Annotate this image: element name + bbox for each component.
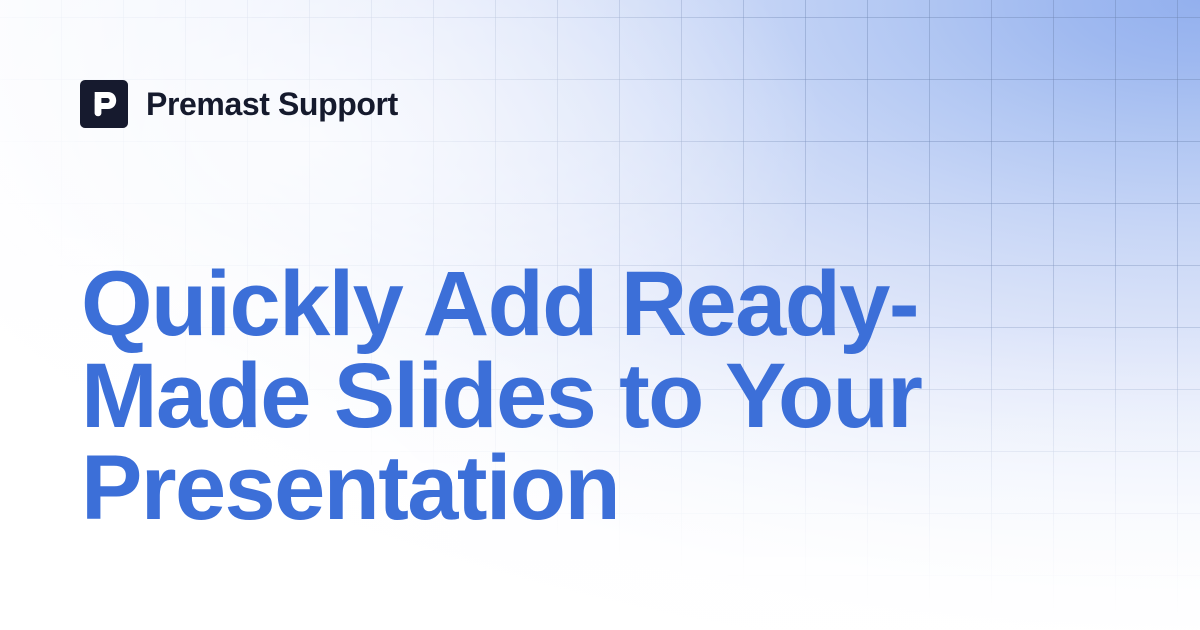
premast-p-leaf-icon bbox=[91, 90, 117, 118]
brand-name-label: Premast Support bbox=[146, 88, 398, 120]
brand-lockup: Premast Support bbox=[80, 80, 398, 128]
premast-logo-mark bbox=[80, 80, 128, 128]
page-title: Quickly Add Ready-Made Slides to Your Pr… bbox=[81, 258, 1011, 534]
social-card-canvas: Premast Support Quickly Add Ready-Made S… bbox=[0, 0, 1200, 630]
